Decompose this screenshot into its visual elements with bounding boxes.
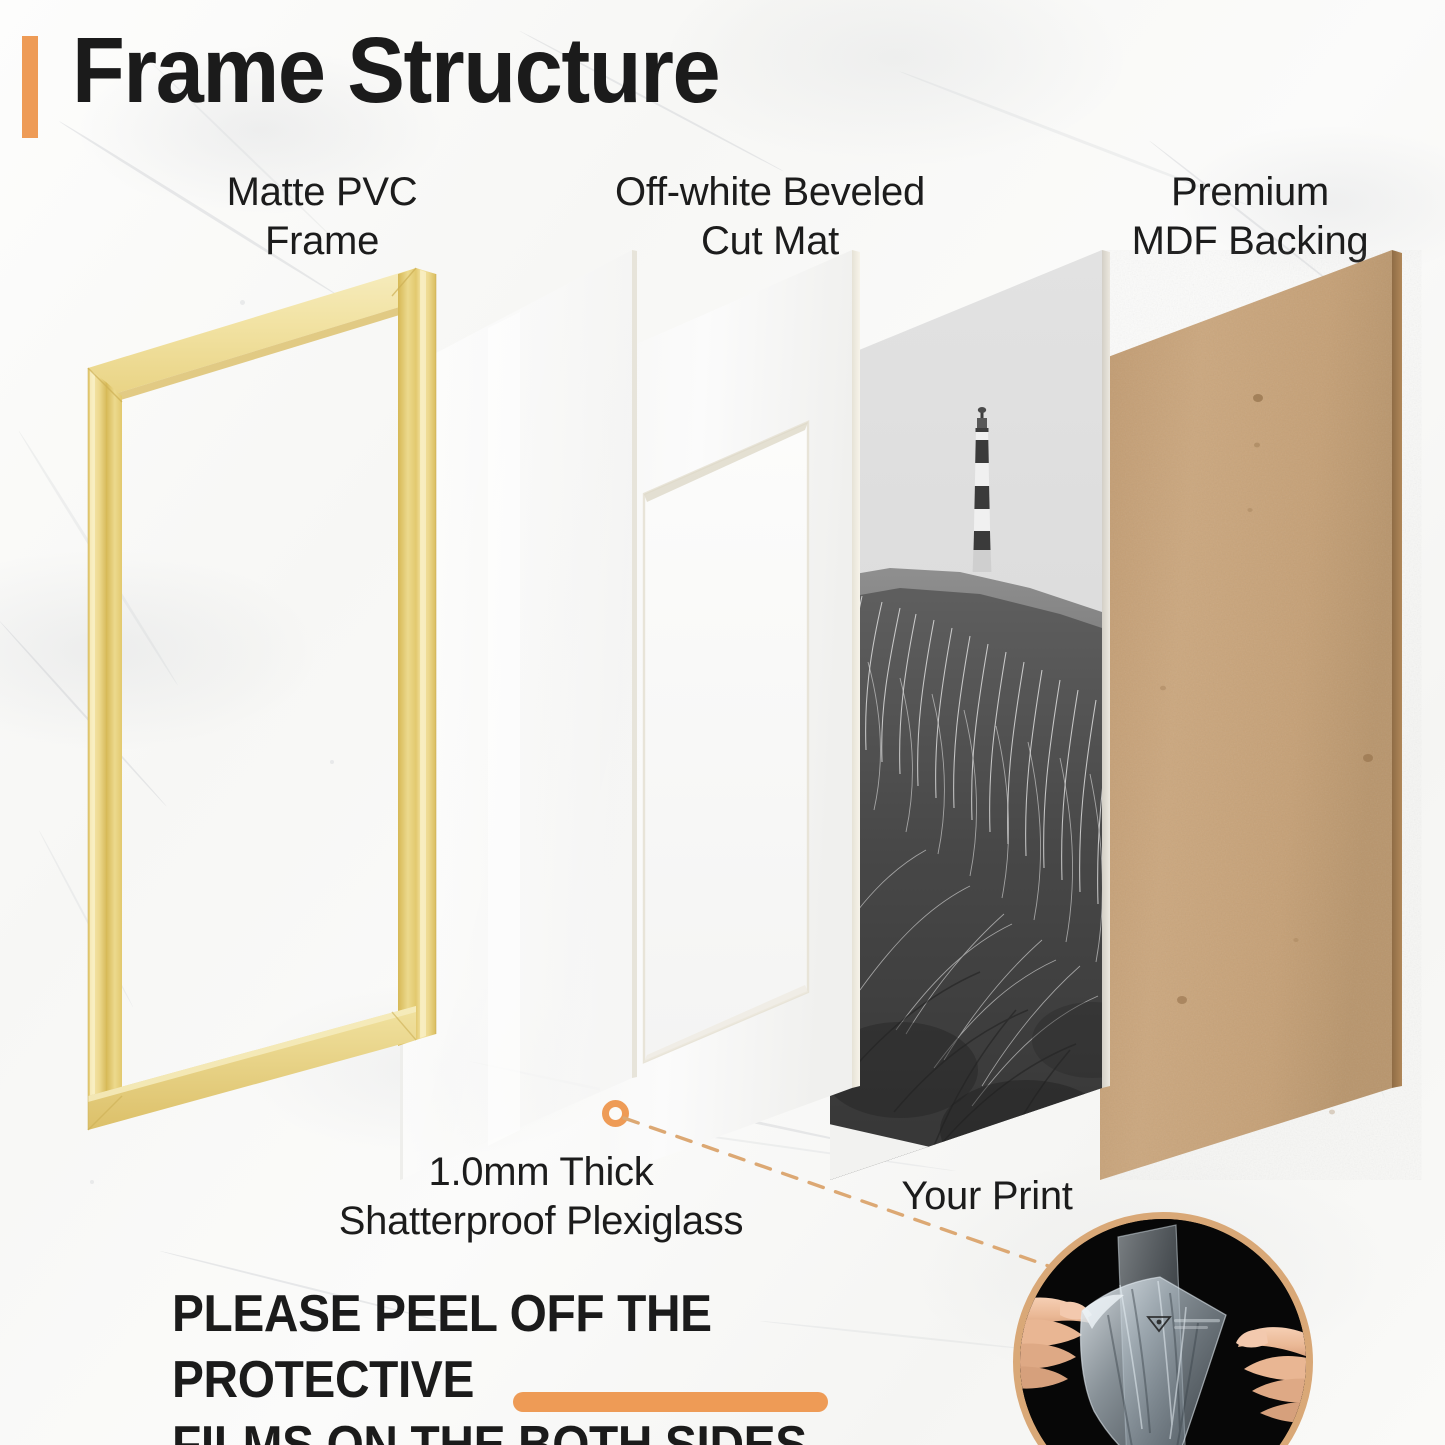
title-accent-bar [22,36,38,138]
infographic-canvas: Frame Structure Matte PVC Frame Off-whit… [0,0,1445,1445]
plexiglass-callout-marker [602,1100,629,1127]
page-title: Frame Structure [72,24,719,117]
label-plexiglass: 1.0mm Thick Shatterproof Plexiglass [276,1148,806,1246]
layer-gold-frame [60,250,480,1180]
peel-notice-text: PLEASE PEEL OFF THE PROTECTIVE FILMS ON … [172,1282,972,1445]
label-your-print: Your Print [862,1172,1112,1220]
notice-highlight-underline [513,1392,828,1412]
